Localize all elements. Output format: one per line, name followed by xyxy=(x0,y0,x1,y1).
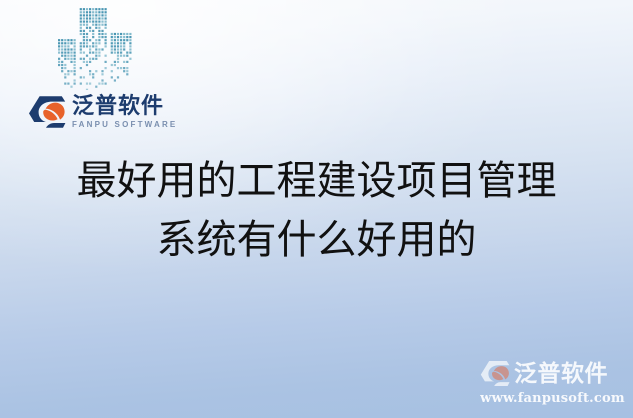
brand-name-cn: 泛普软件 xyxy=(72,94,177,117)
watermark-lockup: 泛普软件 xyxy=(480,356,625,390)
watermark-url: www.fanpusoft.com xyxy=(480,391,625,406)
fanpu-logo-mark-icon xyxy=(28,95,66,129)
brand-wordmark: 泛普软件 FANPU SOFTWARE xyxy=(72,94,177,129)
brand-lockup: 泛普软件 FANPU SOFTWARE xyxy=(28,94,177,129)
watermark: 泛普软件 www.fanpusoft.com xyxy=(480,356,625,412)
brand-name-en: FANPU SOFTWARE xyxy=(72,120,177,129)
page-title: 最好用的工程建设项目管理 系统有什么好用的 xyxy=(0,152,633,270)
page-title-line-1: 最好用的工程建设项目管理 xyxy=(0,152,633,211)
slide-canvas: 泛普软件 FANPU SOFTWARE 最好用的工程建设项目管理 系统有什么好用… xyxy=(0,0,633,418)
page-title-line-2: 系统有什么好用的 xyxy=(0,211,633,270)
fanpu-logo-mark-watermark-icon xyxy=(480,360,510,387)
pixel-skyline-graphic xyxy=(57,6,149,90)
watermark-name-cn: 泛普软件 xyxy=(514,362,608,385)
